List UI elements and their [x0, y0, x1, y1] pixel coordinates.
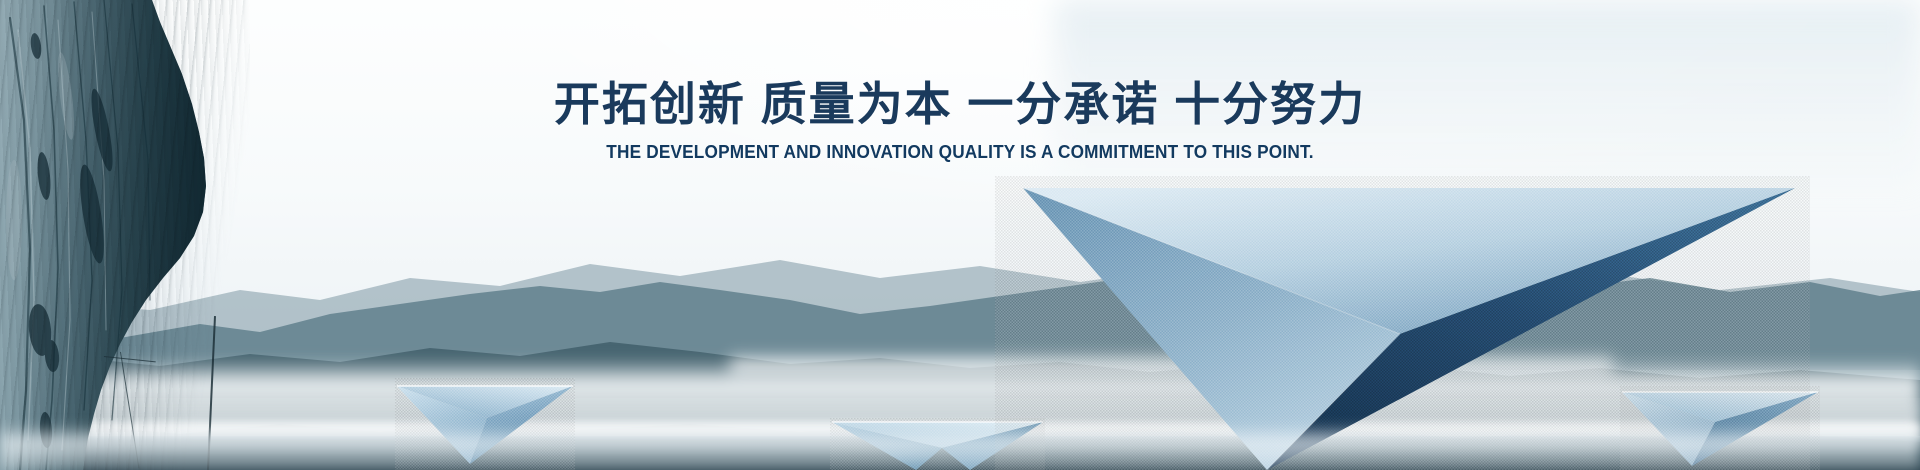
pyramid-large-center-right	[995, 176, 1810, 470]
pyramid-small-left	[395, 378, 575, 470]
banner-subtitle: THE DEVELOPMENT AND INNOVATION QUALITY I…	[67, 141, 1853, 163]
banner-headline: 开拓创新 质量为本 一分承诺 十分努力	[0, 78, 1920, 131]
banner-text-block: 开拓创新 质量为本 一分承诺 十分努力 THE DEVELOPMENT AND …	[0, 78, 1920, 163]
cliff-rock-texture	[0, 0, 250, 470]
rocky-cliff-face	[0, 0, 250, 470]
hero-banner: 开拓创新 质量为本 一分承诺 十分努力 THE DEVELOPMENT AND …	[0, 0, 1920, 470]
